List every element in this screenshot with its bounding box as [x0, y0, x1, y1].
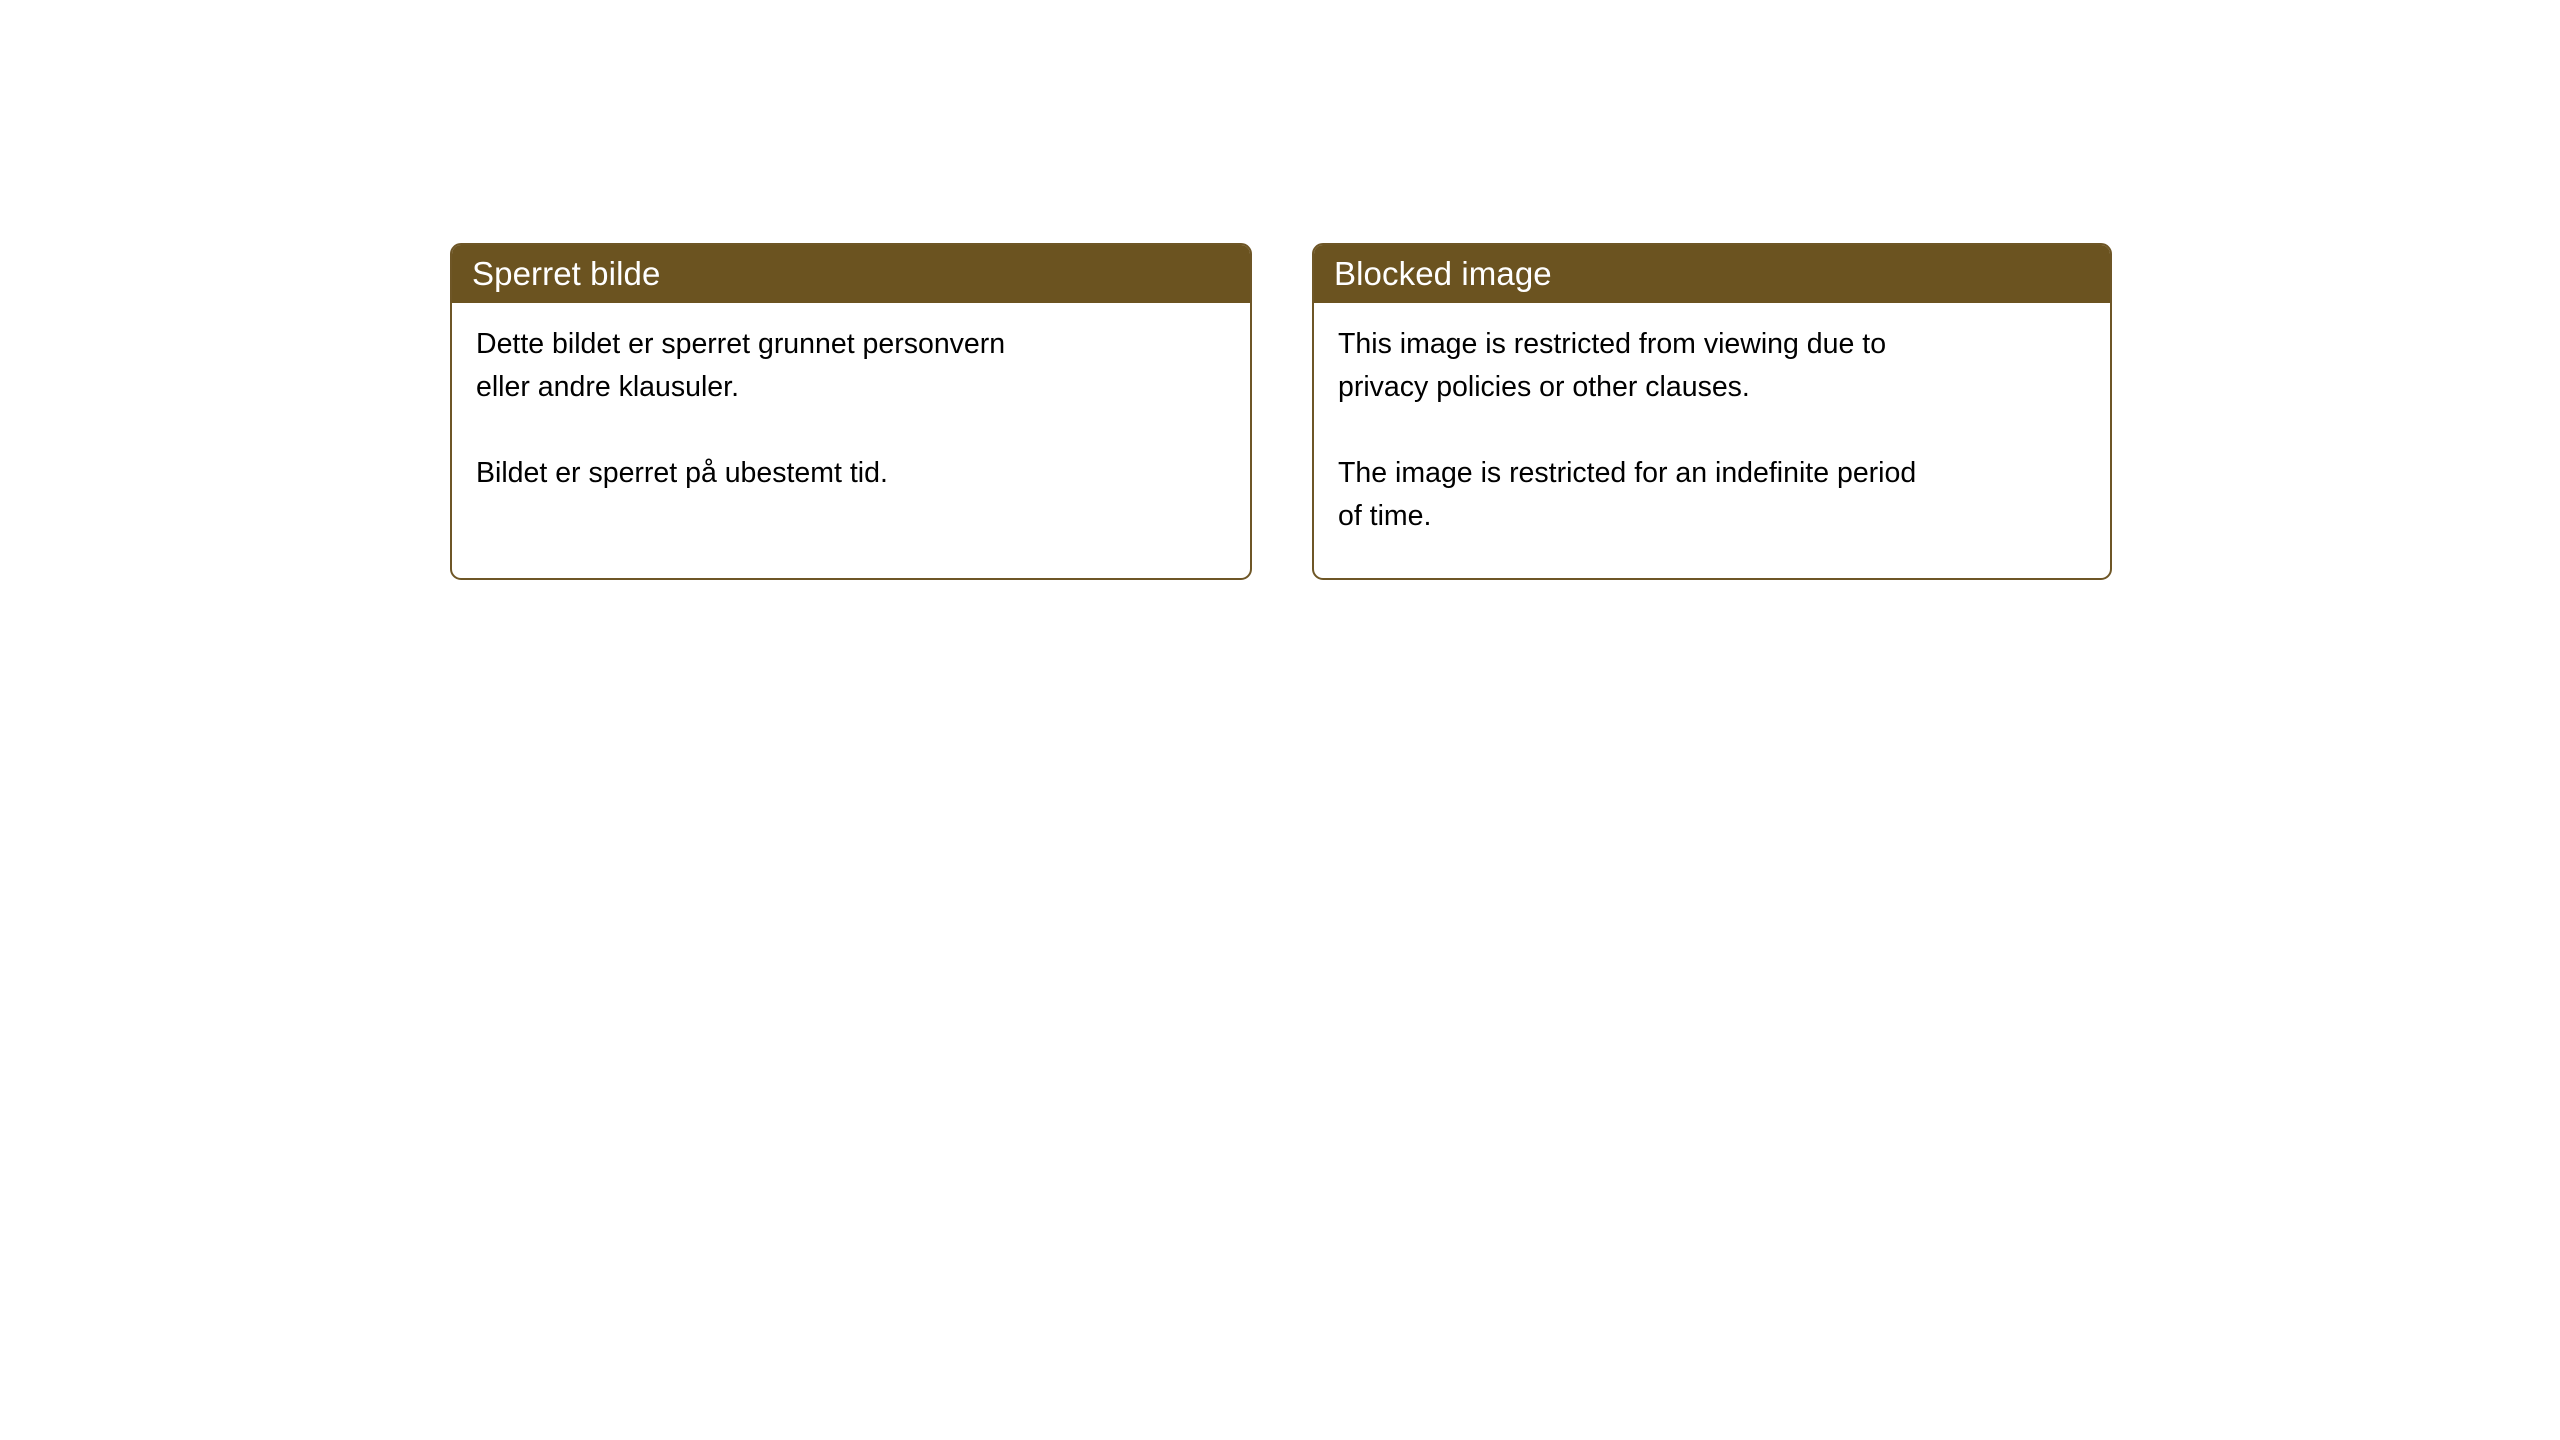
blocked-image-card-english: Blocked image This image is restricted f… — [1312, 243, 2112, 580]
card-title-english: Blocked image — [1334, 257, 1552, 290]
card-paragraph-primary-english: This image is restricted from viewing du… — [1338, 323, 2084, 409]
card-paragraph-secondary-norwegian: Bildet er sperret på ubestemt tid. — [476, 452, 1224, 495]
paragraph-spacer — [476, 409, 1224, 452]
card-header-english: Blocked image — [1312, 243, 2112, 303]
paragraph-spacer — [1338, 409, 2084, 452]
card-title-norwegian: Sperret bilde — [472, 257, 660, 290]
blocked-image-card-norwegian: Sperret bilde Dette bildet er sperret gr… — [450, 243, 1252, 580]
card-header-norwegian: Sperret bilde — [450, 243, 1252, 303]
card-paragraph-secondary-english: The image is restricted for an indefinit… — [1338, 452, 2084, 538]
card-body-norwegian: Dette bildet er sperret grunnet personve… — [452, 303, 1250, 495]
card-body-english: This image is restricted from viewing du… — [1314, 303, 2110, 538]
card-paragraph-primary-norwegian: Dette bildet er sperret grunnet personve… — [476, 323, 1224, 409]
notice-stage: Sperret bilde Dette bildet er sperret gr… — [0, 0, 2560, 1440]
